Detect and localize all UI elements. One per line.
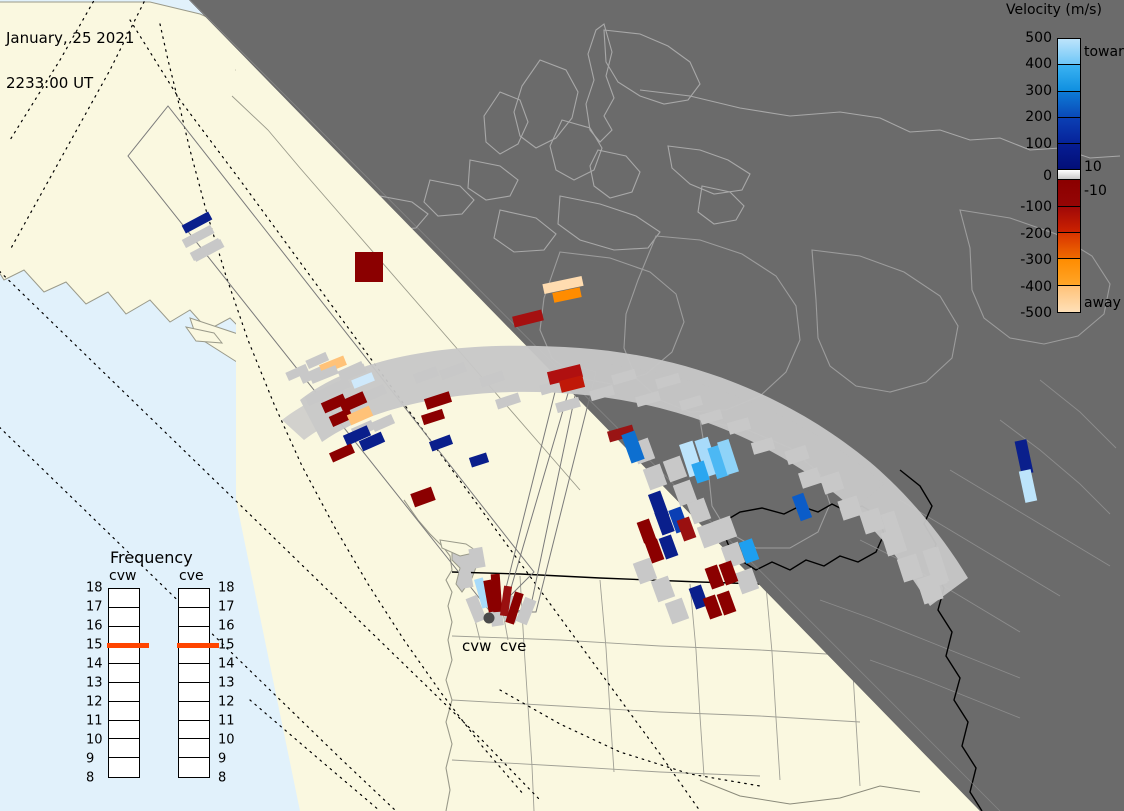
colorbar-title: Velocity (m/s) bbox=[1006, 2, 1124, 18]
colorbar-segment bbox=[1058, 65, 1080, 91]
frequency-tick: 12 bbox=[86, 695, 103, 710]
frequency-column-label-cvw: cvw bbox=[109, 568, 136, 584]
frequency-tick: 17 bbox=[86, 600, 103, 615]
velocity-cell bbox=[355, 252, 383, 282]
colorbar-negative-threshold-label: -10 bbox=[1084, 183, 1107, 199]
colorbar-segment bbox=[1058, 180, 1080, 206]
colorbar-segment bbox=[1058, 92, 1080, 118]
colorbar-tick: -200 bbox=[1020, 226, 1052, 242]
colorbar-tick: 400 bbox=[1025, 56, 1052, 72]
frequency-segment[interactable] bbox=[109, 683, 139, 702]
frequency-tick: 18 bbox=[218, 581, 235, 596]
frequency-bar-cve[interactable] bbox=[178, 588, 210, 778]
colorbar-tick: 0 bbox=[1043, 168, 1052, 184]
frequency-tick: 11 bbox=[218, 714, 235, 729]
colorbar-tick: -100 bbox=[1020, 199, 1052, 215]
frequency-segment[interactable] bbox=[109, 721, 139, 740]
frequency-segment[interactable] bbox=[179, 645, 209, 664]
frequency-tick: 10 bbox=[218, 733, 235, 748]
frequency-selected-marker-cvw bbox=[107, 643, 149, 648]
frequency-tick: 18 bbox=[86, 581, 103, 596]
timestamp-time: 2233:00 UT bbox=[6, 76, 134, 91]
frequency-tick: 13 bbox=[86, 676, 103, 691]
frequency-segment[interactable] bbox=[109, 645, 139, 664]
station-label-cvw: cvw bbox=[462, 637, 491, 655]
frequency-segment[interactable] bbox=[109, 589, 139, 608]
frequency-tick: 9 bbox=[218, 752, 226, 767]
colorbar-gradient-strip bbox=[1057, 38, 1081, 313]
frequency-segment[interactable] bbox=[179, 589, 209, 608]
frequency-column-label-cve: cve bbox=[179, 568, 204, 584]
frequency-tick: 15 bbox=[86, 638, 103, 653]
colorbar-segment bbox=[1058, 286, 1080, 312]
station-label-cve: cve bbox=[500, 637, 526, 655]
frequency-tick: 16 bbox=[218, 619, 235, 634]
colorbar-segment bbox=[1058, 259, 1080, 285]
frequency-legend: Frequency cvw18171615141312111098cve1817… bbox=[90, 548, 250, 788]
frequency-segment[interactable] bbox=[179, 739, 209, 758]
frequency-selected-marker-cve bbox=[177, 643, 219, 648]
frequency-legend-title: Frequency bbox=[110, 548, 193, 567]
frequency-tick: 16 bbox=[86, 619, 103, 634]
frequency-segment[interactable] bbox=[109, 739, 139, 758]
colorbar-tick: 100 bbox=[1025, 136, 1052, 152]
colorbar-tick: 200 bbox=[1025, 109, 1052, 125]
frequency-tick: 14 bbox=[86, 657, 103, 672]
frequency-segment[interactable] bbox=[109, 664, 139, 683]
frequency-tick: 8 bbox=[218, 771, 226, 786]
colorbar-segment bbox=[1058, 207, 1080, 233]
frequency-segment[interactable] bbox=[179, 721, 209, 740]
frequency-segment[interactable] bbox=[179, 664, 209, 683]
frequency-segment[interactable] bbox=[179, 683, 209, 702]
frequency-segment[interactable] bbox=[179, 702, 209, 721]
frequency-tick: 17 bbox=[218, 600, 235, 615]
timestamp-date: January, 25 2021 bbox=[6, 31, 134, 46]
colorbar-segment bbox=[1058, 39, 1080, 65]
radar-station-dot bbox=[484, 613, 495, 624]
frequency-segment[interactable] bbox=[109, 702, 139, 721]
colorbar-segment bbox=[1058, 170, 1080, 180]
colorbar-away-label: away bbox=[1084, 295, 1121, 311]
timestamp: January, 25 2021 2233:00 UT bbox=[6, 1, 134, 121]
colorbar-toward-label: toward bbox=[1084, 44, 1124, 60]
colorbar-tick: -400 bbox=[1020, 279, 1052, 295]
colorbar-tick: -500 bbox=[1020, 305, 1052, 321]
colorbar-segment bbox=[1058, 233, 1080, 259]
colorbar-tick: 300 bbox=[1025, 83, 1052, 99]
frequency-segment[interactable] bbox=[179, 758, 209, 777]
frequency-tick: 12 bbox=[218, 695, 235, 710]
colorbar-segment bbox=[1058, 144, 1080, 170]
velocity-colorbar: Velocity (m/s) 5004003002001000-100-200-… bbox=[1000, 0, 1124, 340]
frequency-tick: 9 bbox=[86, 752, 94, 767]
colorbar-segment bbox=[1058, 118, 1080, 144]
frequency-tick: 15 bbox=[218, 638, 235, 653]
colorbar-tick: -300 bbox=[1020, 252, 1052, 268]
frequency-bar-cvw[interactable] bbox=[108, 588, 140, 778]
frequency-tick: 11 bbox=[86, 714, 103, 729]
colorbar-tick: 500 bbox=[1025, 30, 1052, 46]
frequency-tick: 10 bbox=[86, 733, 103, 748]
frequency-tick: 14 bbox=[218, 657, 235, 672]
frequency-tick: 8 bbox=[86, 771, 94, 786]
frequency-tick: 13 bbox=[218, 676, 235, 691]
frequency-segment[interactable] bbox=[109, 608, 139, 627]
frequency-segment[interactable] bbox=[179, 608, 209, 627]
superdarn-velocity-map: January, 25 2021 2233:00 UT Velocity (m/… bbox=[0, 0, 1124, 811]
colorbar-positive-threshold-label: 10 bbox=[1084, 159, 1102, 175]
frequency-segment[interactable] bbox=[109, 758, 139, 777]
